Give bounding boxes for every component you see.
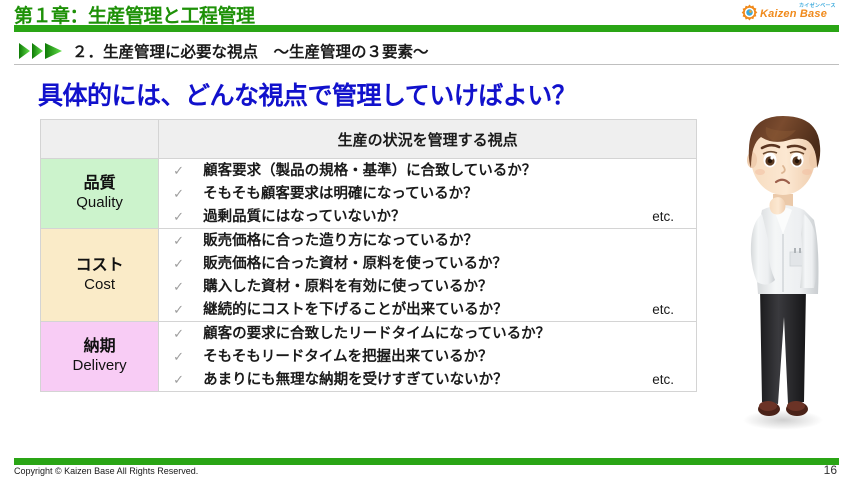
section-subtitle: ２．生産管理に必要な視点 ～生産管理の３要素～: [0, 38, 853, 64]
category-jp-label: 品質: [41, 175, 158, 194]
footer-green-bar: [14, 458, 839, 465]
page-number: 16: [824, 463, 837, 477]
list-item-text: 販売価格に合った資材・原料を使っているか？: [203, 252, 652, 273]
check-icon: ✓: [173, 163, 203, 179]
list-item-text: そもそもリードタイムを把握出来ているか？: [203, 345, 652, 366]
check-icon: ✓: [173, 233, 203, 249]
list-item: ✓ そもそも顧客要求は明確になっているか？ etc.: [159, 182, 696, 205]
category-cell-quality: 品質 Quality: [41, 159, 159, 229]
table-row: 品質 Quality ✓ 顧客要求（製品の規格・基準）に合致しているか？ etc…: [41, 159, 697, 229]
category-jp-label: コスト: [41, 257, 158, 276]
list-item: ✓ 販売価格に合った資材・原料を使っているか？ etc.: [159, 252, 696, 275]
check-icon: ✓: [173, 372, 203, 388]
check-icon: ✓: [173, 349, 203, 365]
list-item-text: あまりにも無理な納期を受けすぎていないか？: [203, 368, 652, 389]
thinking-person-illustration: [718, 102, 848, 450]
table-header-row: 生産の状況を管理する視点: [41, 120, 697, 159]
list-item-text: 継続的にコストを下げることが出来ているか？: [203, 298, 652, 319]
category-jp-label: 納期: [41, 338, 158, 357]
check-icon: ✓: [173, 186, 203, 202]
list-item-text: 販売価格に合った造り方になっているか？: [203, 229, 652, 250]
list-item: ✓ 顧客の要求に合致したリードタイムになっているか？ etc.: [159, 322, 696, 345]
page-title: 第１章：生産管理と工程管理: [14, 1, 255, 28]
list-item: ✓ 顧客要求（製品の規格・基準）に合致しているか？ etc.: [159, 159, 696, 182]
header-green-bar: [14, 25, 839, 32]
triple-chevron-right-icon: [18, 42, 64, 60]
items-cell-cost: ✓ 販売価格に合った造り方になっているか？ etc. ✓ 販売価格に合った資材・…: [159, 229, 697, 322]
items-cell-quality: ✓ 顧客要求（製品の規格・基準）に合致しているか？ etc. ✓ そもそも顧客要…: [159, 159, 697, 229]
items-cell-delivery: ✓ 顧客の要求に合致したリードタイムになっているか？ etc. ✓ そもそもリー…: [159, 322, 697, 392]
category-en-label: Cost: [41, 276, 158, 294]
subtitle-divider: [14, 64, 839, 65]
check-icon: ✓: [173, 302, 203, 318]
check-icon: ✓: [173, 209, 203, 225]
table-header-items: 生産の状況を管理する視点: [159, 120, 697, 159]
main-question-heading: 具体的には、どんな視点で管理していけばよい？: [38, 76, 576, 112]
table-row: 納期 Delivery ✓ 顧客の要求に合致したリードタイムになっているか？ e…: [41, 322, 697, 392]
list-item-text: 顧客の要求に合致したリードタイムになっているか？: [203, 322, 652, 343]
list-item: ✓ 販売価格に合った造り方になっているか？ etc.: [159, 229, 696, 252]
check-icon: ✓: [173, 326, 203, 342]
list-item: ✓ 購入した資材・原料を有効に使っているか？ etc.: [159, 275, 696, 298]
list-item-text: 顧客要求（製品の規格・基準）に合致しているか？: [203, 159, 652, 180]
list-item-text: 過剰品質にはなっていないか？: [203, 205, 652, 226]
list-item-text: 購入した資材・原料を有効に使っているか？: [203, 275, 652, 296]
list-item: ✓ 継続的にコストを下げることが出来ているか？ etc.: [159, 298, 696, 321]
subtitle-label: ２．生産管理に必要な視点 ～生産管理の３要素～: [72, 40, 429, 62]
table-header-blank: [41, 120, 159, 159]
category-cell-cost: コスト Cost: [41, 229, 159, 322]
kaizen-base-logo: カイゼンベース Kaizen Base: [741, 2, 845, 24]
list-item: ✓ そもそもリードタイムを把握出来ているか？ etc.: [159, 345, 696, 368]
viewpoints-table: 生産の状況を管理する視点 品質 Quality ✓ 顧客要求（製品の規格・基準）…: [40, 119, 697, 392]
category-en-label: Delivery: [41, 357, 158, 375]
logo-main-text: Kaizen Base: [760, 8, 827, 20]
category-en-label: Quality: [41, 194, 158, 212]
etc-label: etc.: [652, 209, 696, 224]
list-item: ✓ あまりにも無理な納期を受けすぎていないか？ etc.: [159, 368, 696, 391]
etc-label: etc.: [652, 372, 696, 387]
gear-logo-icon: [741, 4, 758, 21]
category-cell-delivery: 納期 Delivery: [41, 322, 159, 392]
table-row: コスト Cost ✓ 販売価格に合った造り方になっているか？ etc. ✓ 販売…: [41, 229, 697, 322]
etc-label: etc.: [652, 302, 696, 317]
list-item: ✓ 過剰品質にはなっていないか？ etc.: [159, 205, 696, 228]
check-icon: ✓: [173, 256, 203, 272]
list-item-text: そもそも顧客要求は明確になっているか？: [203, 182, 652, 203]
copyright-text: Copyright © Kaizen Base All Rights Reser…: [14, 466, 198, 476]
check-icon: ✓: [173, 279, 203, 295]
